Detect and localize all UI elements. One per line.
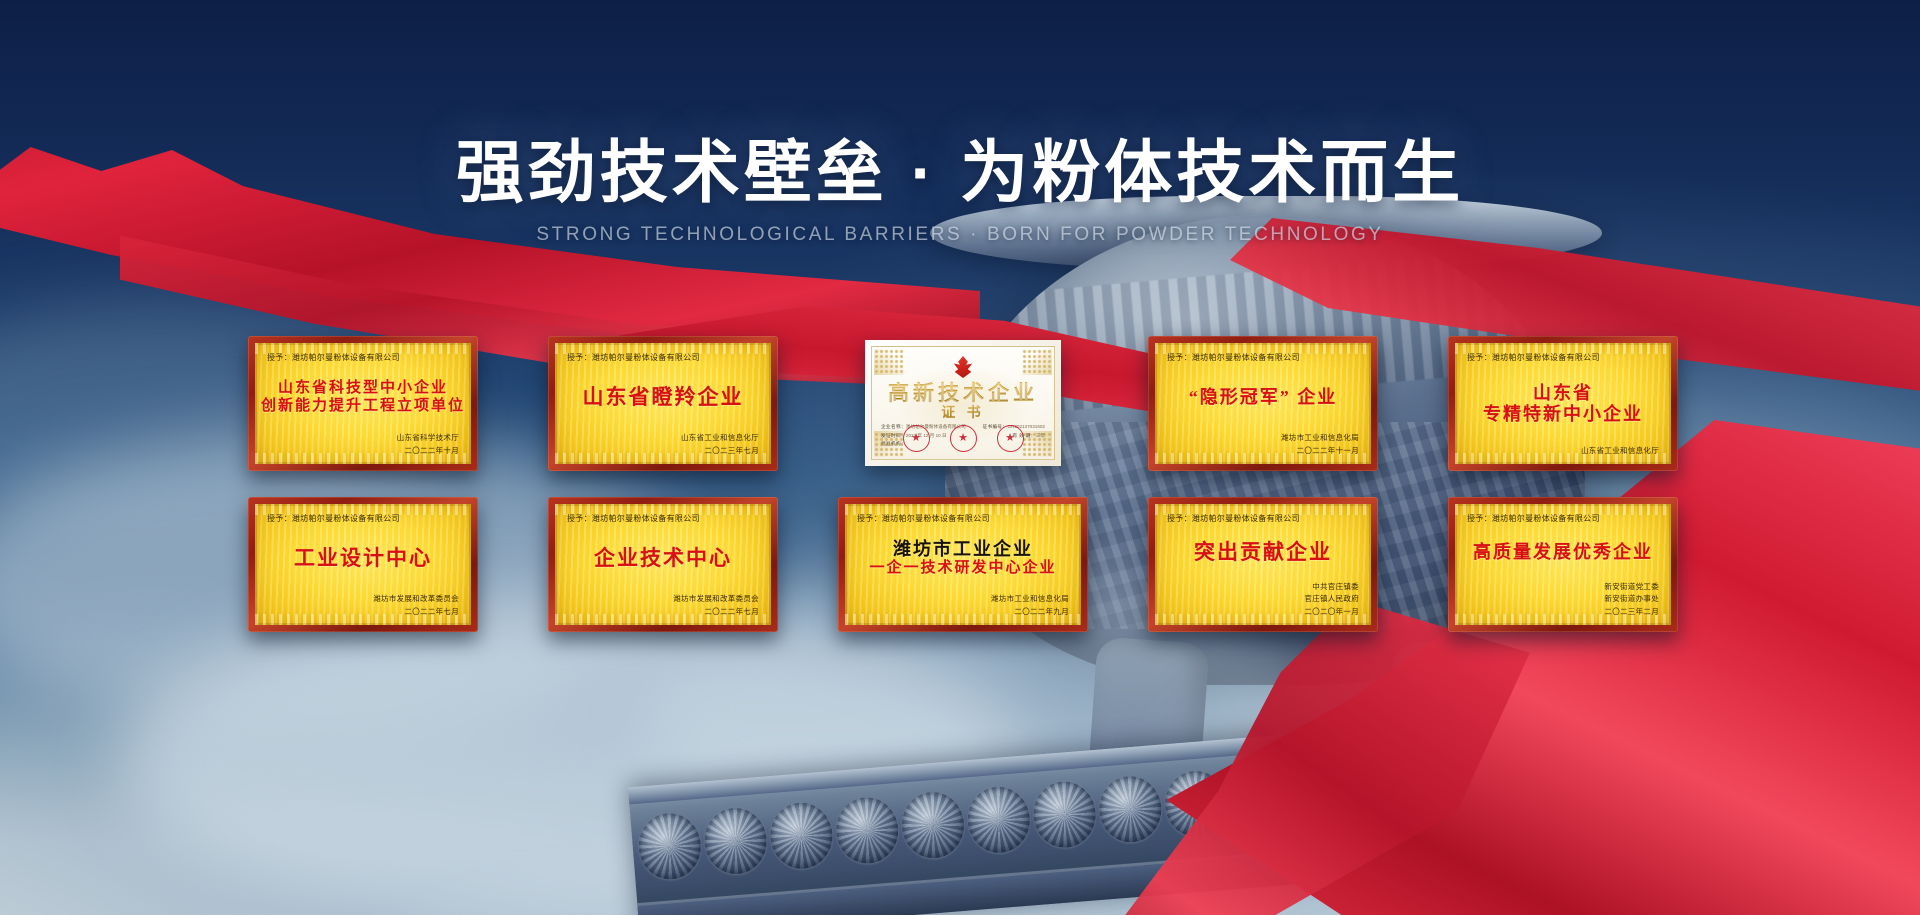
plinth-medallion	[1557, 737, 1624, 808]
plaque-grant-line: 授予：潍坊帕尔曼粉体设备有限公司	[567, 513, 759, 524]
plaque-face: 授予：潍坊帕尔曼粉体设备有限公司山东省科技型中小企业创新能力提升工程立项单位山东…	[255, 343, 471, 464]
plaque-date: 二〇二〇年一月	[1167, 606, 1359, 618]
plinth-medallion	[834, 795, 901, 866]
certificate-subtitle: 证 书	[872, 402, 1054, 422]
plaque-award-title: 企业技术中心	[567, 524, 759, 593]
plaque-award-title: 高质量发展优秀企业	[1467, 524, 1659, 581]
plinth-medallion	[636, 811, 703, 882]
plaque-face: 授予：潍坊帕尔曼粉体设备有限公司突出贡献企业中共官庄镇委官庄镇人民政府二〇二〇年…	[1155, 504, 1371, 625]
plaque-cell: 授予：潍坊帕尔曼粉体设备有限公司潍坊市工业企业一企一技术研发中心企业潍坊市工业和…	[813, 497, 1113, 632]
plaque-outstanding-contribution[interactable]: 授予：潍坊帕尔曼粉体设备有限公司突出贡献企业中共官庄镇委官庄镇人民政府二〇二〇年…	[1148, 497, 1378, 632]
page-subtitle: STRONG TECHNOLOGICAL BARRIERS · BORN FOR…	[0, 224, 1920, 246]
plaque-issuer: 新安街道办事处	[1467, 593, 1659, 605]
plaque-cell: 授予：潍坊帕尔曼粉体设备有限公司山东省专精特新中小企业山东省工业和信息化厅	[1413, 336, 1713, 471]
plaque-cell: 授予：潍坊帕尔曼粉体设备有限公司突出贡献企业中共官庄镇委官庄镇人民政府二〇二〇年…	[1113, 497, 1413, 632]
plaque-high-quality-development[interactable]: 授予：潍坊帕尔曼粉体设备有限公司高质量发展优秀企业新安街道党工委新安街道办事处二…	[1448, 497, 1678, 632]
plinth-medallion	[1820, 716, 1887, 787]
plaque-title-line: 高质量发展优秀企业	[1473, 542, 1653, 563]
certificate-face: 高新技术企业证 书企业名称：潍坊帕尔曼粉体设备有限公司证书编号：GR202137…	[871, 346, 1055, 460]
plaque-date: 二〇二三年七月	[567, 445, 759, 457]
plaque-title-line: 企业技术中心	[594, 546, 732, 571]
plaque-hidden-champion[interactable]: 授予：潍坊帕尔曼粉体设备有限公司“隐形冠军” 企业潍坊市工业和信息化局二〇二二年…	[1148, 336, 1378, 471]
plaque-grant-line: 授予：潍坊帕尔曼粉体设备有限公司	[857, 513, 1069, 524]
banner-stage: 强劲技术壁垒 · 为粉体技术而生 STRONG TECHNOLOGICAL BA…	[0, 0, 1920, 915]
plaque-award-title: 工业设计中心	[267, 524, 459, 593]
plaque-cell: 授予：潍坊帕尔曼粉体设备有限公司企业技术中心潍坊市发展和改革委员会二〇二二年七月	[513, 497, 813, 632]
plaque-cell: 授予：潍坊帕尔曼粉体设备有限公司山东省科技型中小企业创新能力提升工程立项单位山东…	[213, 336, 513, 471]
plinth-medallion	[1163, 769, 1230, 840]
plaque-issuer: 新安街道党工委	[1467, 581, 1659, 593]
plaque-issuer-block: 新安街道党工委新安街道办事处二〇二三年二月	[1467, 581, 1659, 618]
plaque-date: 二〇二三年二月	[1467, 606, 1659, 618]
plaque-issuer: 潍坊市发展和改革委员会	[567, 593, 759, 605]
plaque-issuer-block: 潍坊市发展和改革委员会二〇二二年七月	[267, 593, 459, 618]
plaque-grant-line: 授予：潍坊帕尔曼粉体设备有限公司	[1467, 352, 1659, 363]
plaque-face: 授予：潍坊帕尔曼粉体设备有限公司企业技术中心潍坊市发展和改革委员会二〇二二年七月	[555, 504, 771, 625]
official-seal-icon: ★	[903, 425, 930, 452]
plaque-award-title: 山东省瞪羚企业	[567, 363, 759, 432]
plaque-award-title: 山东省科技型中小企业创新能力提升工程立项单位	[267, 363, 459, 432]
plaque-cell: 授予：潍坊帕尔曼粉体设备有限公司山东省瞪羚企业山东省工业和信息化厅二〇二三年七月	[513, 336, 813, 471]
plinth-medallion	[1426, 747, 1493, 818]
plaque-one-enterprise-one-tech[interactable]: 授予：潍坊帕尔曼粉体设备有限公司潍坊市工业企业一企一技术研发中心企业潍坊市工业和…	[838, 497, 1088, 632]
certificate-corner-ornament-icon	[874, 349, 904, 375]
plinth-medallion	[965, 784, 1032, 855]
plinth-medallion	[1031, 779, 1098, 850]
page-title: 强劲技术壁垒 · 为粉体技术而生	[0, 136, 1920, 211]
plaque-face: 授予：潍坊帕尔曼粉体设备有限公司山东省瞪羚企业山东省工业和信息化厅二〇二三年七月	[555, 343, 771, 464]
plaque-issuer: 中共官庄镇委	[1167, 581, 1359, 593]
plaque-grant-line: 授予：潍坊帕尔曼粉体设备有限公司	[267, 513, 459, 524]
plaque-title-line: 潍坊市工业企业	[893, 539, 1033, 560]
plinth-medallion	[1097, 774, 1164, 845]
plinth-medallion	[1492, 742, 1559, 813]
plaque-title-line: 工业设计中心	[294, 546, 432, 571]
high-tech-enterprise-certificate[interactable]: 高新技术企业证 书企业名称：潍坊帕尔曼粉体设备有限公司证书编号：GR202137…	[865, 340, 1061, 466]
plinth-medallion	[899, 790, 966, 861]
plaque-award-title: “隐形冠军” 企业	[1167, 363, 1359, 432]
plaque-issuer: 山东省工业和信息化厅	[1467, 445, 1659, 457]
plaque-cell: 授予：潍坊帕尔曼粉体设备有限公司高质量发展优秀企业新安街道党工委新安街道办事处二…	[1413, 497, 1713, 632]
plaque-cell: 高新技术企业证 书企业名称：潍坊帕尔曼粉体设备有限公司证书编号：GR202137…	[813, 336, 1113, 471]
plaque-date: 二〇二二年十一月	[1167, 445, 1359, 457]
plinth-medallion	[1228, 763, 1295, 834]
plaque-issuer: 山东省工业和信息化厅	[567, 432, 759, 444]
plaque-issuer: 潍坊市工业和信息化局	[1167, 432, 1359, 444]
certificate-corner-ornament-icon	[1022, 349, 1052, 375]
plinth-medallion	[768, 800, 835, 871]
plaque-issuer: 山东省科学技术厅	[267, 432, 459, 444]
award-plaque-grid: 授予：潍坊帕尔曼粉体设备有限公司山东省科技型中小企业创新能力提升工程立项单位山东…	[213, 336, 1713, 632]
plaque-award-title: 山东省专精特新中小企业	[1467, 363, 1659, 445]
certificate-seals: ★★★	[872, 425, 1054, 452]
official-seal-icon: ★	[950, 425, 977, 452]
official-seal-icon: ★	[997, 425, 1024, 452]
plaque-face: 授予：潍坊帕尔曼粉体设备有限公司高质量发展优秀企业新安街道党工委新安街道办事处二…	[1455, 504, 1671, 625]
flame-icon	[952, 356, 974, 378]
plaque-issuer-block: 潍坊市发展和改革委员会二〇二二年七月	[567, 593, 759, 618]
plaque-face: 授予：潍坊帕尔曼粉体设备有限公司工业设计中心潍坊市发展和改革委员会二〇二二年七月	[255, 504, 471, 625]
plaque-grant-line: 授予：潍坊帕尔曼粉体设备有限公司	[1167, 513, 1359, 524]
plaque-face: 授予：潍坊帕尔曼粉体设备有限公司“隐形冠军” 企业潍坊市工业和信息化局二〇二二年…	[1155, 343, 1371, 464]
plaque-issuer-block: 潍坊市工业和信息化局二〇二二年九月	[857, 593, 1069, 618]
plaque-grant-line: 授予：潍坊帕尔曼粉体设备有限公司	[1467, 513, 1659, 524]
plaque-title-line: “隐形冠军” 企业	[1189, 387, 1338, 408]
plaque-row-bottom: 授予：潍坊帕尔曼粉体设备有限公司工业设计中心潍坊市发展和改革委员会二〇二二年七月…	[213, 497, 1713, 632]
plaque-date: 二〇二二年十月	[267, 445, 459, 457]
plaque-title-line: 一企一技术研发中心企业	[869, 560, 1056, 578]
plaque-title-line: 山东省	[1533, 383, 1593, 404]
plaque-award-title: 突出贡献企业	[1167, 524, 1359, 581]
plaque-issuer-block: 中共官庄镇委官庄镇人民政府二〇二〇年一月	[1167, 581, 1359, 618]
plaque-date: 二〇二二年九月	[857, 606, 1069, 618]
plaque-face: 授予：潍坊帕尔曼粉体设备有限公司山东省专精特新中小企业山东省工业和信息化厅	[1455, 343, 1671, 464]
plaque-issuer-block: 山东省科学技术厅二〇二二年十月	[267, 432, 459, 457]
plaque-issuer-block: 山东省工业和信息化厅二〇二三年七月	[567, 432, 759, 457]
plaque-grant-line: 授予：潍坊帕尔曼粉体设备有限公司	[1167, 352, 1359, 363]
plinth-medallion	[1755, 721, 1822, 792]
plaque-issuer: 官庄镇人民政府	[1167, 593, 1359, 605]
plaque-cell: 授予：潍坊帕尔曼粉体设备有限公司工业设计中心潍坊市发展和改革委员会二〇二二年七月	[213, 497, 513, 632]
plaque-shandong-gazelle[interactable]: 授予：潍坊帕尔曼粉体设备有限公司山东省瞪羚企业山东省工业和信息化厅二〇二三年七月	[548, 336, 778, 471]
plaque-title-line: 突出贡献企业	[1194, 540, 1332, 565]
plaque-issuer: 潍坊市工业和信息化局	[857, 593, 1069, 605]
plaque-title-line: 专精特新中小企业	[1483, 404, 1643, 425]
plaque-row-top: 授予：潍坊帕尔曼粉体设备有限公司山东省科技型中小企业创新能力提升工程立项单位山东…	[213, 336, 1713, 471]
plaque-enterprise-tech-center[interactable]: 授予：潍坊帕尔曼粉体设备有限公司企业技术中心潍坊市发展和改革委员会二〇二二年七月	[548, 497, 778, 632]
plinth-medallion	[1360, 753, 1427, 824]
plaque-face: 授予：潍坊帕尔曼粉体设备有限公司潍坊市工业企业一企一技术研发中心企业潍坊市工业和…	[845, 504, 1081, 625]
plinth-medallion	[1689, 726, 1756, 797]
plaque-issuer: 潍坊市发展和改革委员会	[267, 593, 459, 605]
plaque-title-line: 山东省科技型中小企业	[278, 380, 448, 398]
plaque-grant-line: 授予：潍坊帕尔曼粉体设备有限公司	[567, 352, 759, 363]
plinth-medallion	[702, 806, 769, 877]
plaque-title-line: 山东省瞪羚企业	[583, 385, 744, 410]
plinth-medallion	[1623, 732, 1690, 803]
plaque-title-line: 创新能力提升工程立项单位	[261, 398, 465, 416]
plaque-grant-line: 授予：潍坊帕尔曼粉体设备有限公司	[267, 352, 459, 363]
plaque-cell: 授予：潍坊帕尔曼粉体设备有限公司“隐形冠军” 企业潍坊市工业和信息化局二〇二二年…	[1113, 336, 1413, 471]
plinth-medallion	[1294, 758, 1361, 829]
plaque-shandong-sme-innovation[interactable]: 授予：潍坊帕尔曼粉体设备有限公司山东省科技型中小企业创新能力提升工程立项单位山东…	[248, 336, 478, 471]
plinth-medallion	[1886, 710, 1920, 781]
plaque-issuer-block: 潍坊市工业和信息化局二〇二二年十一月	[1167, 432, 1359, 457]
plaque-award-title: 潍坊市工业企业一企一技术研发中心企业	[857, 524, 1069, 593]
plaque-industrial-design-center[interactable]: 授予：潍坊帕尔曼粉体设备有限公司工业设计中心潍坊市发展和改革委员会二〇二二年七月	[248, 497, 478, 632]
plaque-date: 二〇二二年七月	[267, 606, 459, 618]
plaque-date: 二〇二二年七月	[567, 606, 759, 618]
plaque-issuer-block: 山东省工业和信息化厅	[1467, 445, 1659, 457]
plaque-specialized-sme[interactable]: 授予：潍坊帕尔曼粉体设备有限公司山东省专精特新中小企业山东省工业和信息化厅	[1448, 336, 1678, 471]
